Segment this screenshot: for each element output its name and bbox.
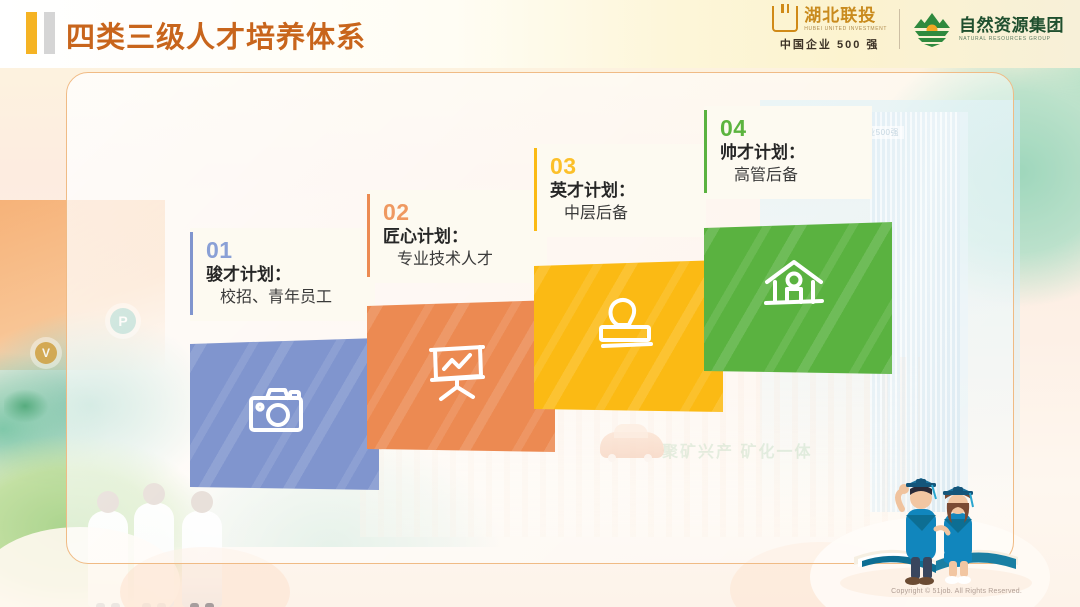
hubei-logo-mark-icon (772, 6, 798, 32)
hubei-logo-name-en: HUBEI UNITED INVESTMENT (804, 26, 887, 32)
step-01-title: 骏才计划： (206, 264, 361, 287)
slide-canvas: 中国企业500强 聚矿兴产 矿化一体 P V 01 骏才计划： 校招、青年员工 (0, 0, 1080, 607)
step-04-subtitle: 高管后备 (720, 165, 858, 187)
header-accent-gray (44, 12, 55, 54)
step-02-card[interactable]: 02 匠心计划： 专业技术人才 (367, 190, 547, 283)
natural-resources-mountain-icon (912, 11, 952, 47)
logo-divider (899, 9, 900, 49)
step-04-accent-bar (704, 110, 707, 193)
step-01-number: 01 (206, 238, 361, 262)
step-02-title: 匠心计划： (383, 226, 533, 249)
step-02-number: 02 (383, 200, 533, 224)
graduates-illustration (836, 457, 1036, 597)
hubei-logo-name: 湖北联投 (804, 7, 887, 24)
hubei-logo-tagline: 中国企业 500 强 (780, 36, 879, 52)
step-04-title: 帅才计划： (720, 142, 858, 165)
hubei-united-investment-logo: 湖北联投 HUBEI UNITED INVESTMENT 中国企业 500 强 (772, 6, 887, 52)
slide-header: 四类三级人才培养体系 湖北联投 HUBEI UNITED INVESTMENT … (0, 0, 1080, 68)
step-03-title: 英才计划： (550, 180, 692, 203)
step-03-number: 03 (550, 154, 692, 178)
step-02-subtitle: 专业技术人才 (383, 249, 533, 271)
presentation-chart-icon (425, 342, 489, 404)
logo-group: 湖北联投 HUBEI UNITED INVESTMENT 中国企业 500 强 (772, 6, 1064, 52)
step-02-accent-bar (367, 194, 370, 277)
house-icon (763, 258, 827, 314)
header-accent-yellow (26, 12, 37, 54)
step-04-number: 04 (720, 116, 858, 140)
step-03-accent-bar (534, 148, 537, 231)
natural-resources-logo-name-en: NATURAL RESOURCES GROUP (959, 36, 1064, 42)
camera-icon (248, 385, 310, 437)
natural-resources-logo-name: 自然资源集团 (959, 17, 1064, 34)
step-04-card[interactable]: 04 帅才计划： 高管后备 (704, 106, 872, 199)
step-03-card[interactable]: 03 英才计划： 中层后备 (534, 144, 706, 237)
stamp-icon (595, 297, 657, 357)
step-01-subtitle: 校招、青年员工 (206, 287, 361, 309)
copyright-text: Copyright © 51job. All Rights Reserved. (891, 588, 1022, 595)
step-01-card[interactable]: 01 骏才计划： 校招、青年员工 (190, 228, 375, 321)
page-title: 四类三级人才培养体系 (66, 14, 366, 56)
natural-resources-group-logo: 自然资源集团 NATURAL RESOURCES GROUP (912, 11, 1064, 47)
step-03-subtitle: 中层后备 (550, 203, 692, 225)
step-01-accent-bar (190, 232, 193, 315)
